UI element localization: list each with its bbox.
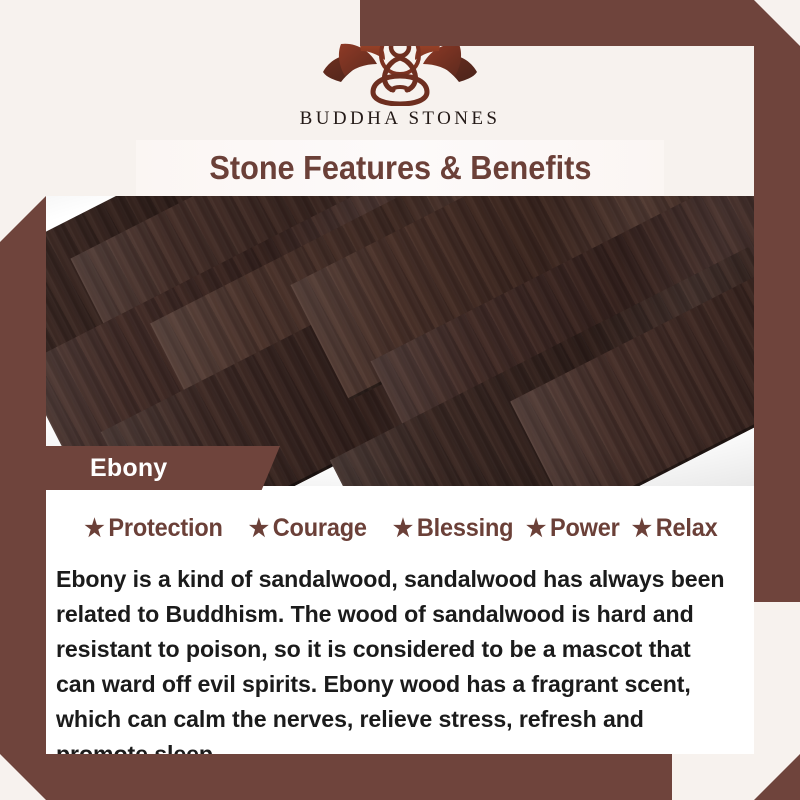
benefit-label: Courage — [273, 514, 367, 543]
product-name-banner: Ebony — [46, 446, 280, 490]
frame-notch-bottom-left — [0, 754, 46, 800]
frame-notch-top-left — [0, 196, 46, 242]
star-icon: ★ — [631, 517, 651, 541]
benefit-item-protection: ★ Protection — [85, 514, 223, 543]
benefit-item-power: ★ Power — [526, 514, 620, 543]
product-photo — [46, 196, 754, 486]
frame-right-edge — [754, 0, 800, 602]
star-icon: ★ — [393, 517, 413, 541]
benefit-label: Protection — [109, 514, 223, 543]
benefit-item-relax: ★ Relax — [631, 514, 717, 543]
star-icon: ★ — [526, 517, 546, 541]
benefit-item-courage: ★ Courage — [249, 514, 367, 543]
frame-notch-top-right — [754, 0, 800, 46]
frame-left-edge — [0, 196, 46, 800]
benefits-row: ★ Protection ★ Courage ★ Blessing ★ Powe… — [46, 514, 754, 543]
frame-bottom-edge — [0, 754, 672, 800]
frame-notch-bottom-right — [754, 754, 800, 800]
page-title: Stone Features & Benefits — [209, 149, 591, 187]
content-card: Ebony ★ Protection ★ Courage ★ Blessing … — [46, 196, 754, 754]
description-text: Ebony is a kind of sandalwood, sandalwoo… — [56, 562, 736, 754]
product-name: Ebony — [90, 454, 167, 483]
infographic-page: BUDDHA STONES Stone Features & Benefits — [0, 0, 800, 800]
benefit-label: Power — [550, 514, 620, 543]
star-icon: ★ — [85, 517, 105, 541]
star-icon: ★ — [249, 517, 269, 541]
benefit-label: Blessing — [417, 514, 513, 543]
benefit-label: Relax — [655, 514, 717, 543]
brand-name: BUDDHA STONES — [0, 108, 800, 130]
frame-top-edge — [360, 0, 800, 46]
title-banner: Stone Features & Benefits — [136, 140, 664, 196]
benefit-item-blessing: ★ Blessing — [393, 514, 513, 543]
